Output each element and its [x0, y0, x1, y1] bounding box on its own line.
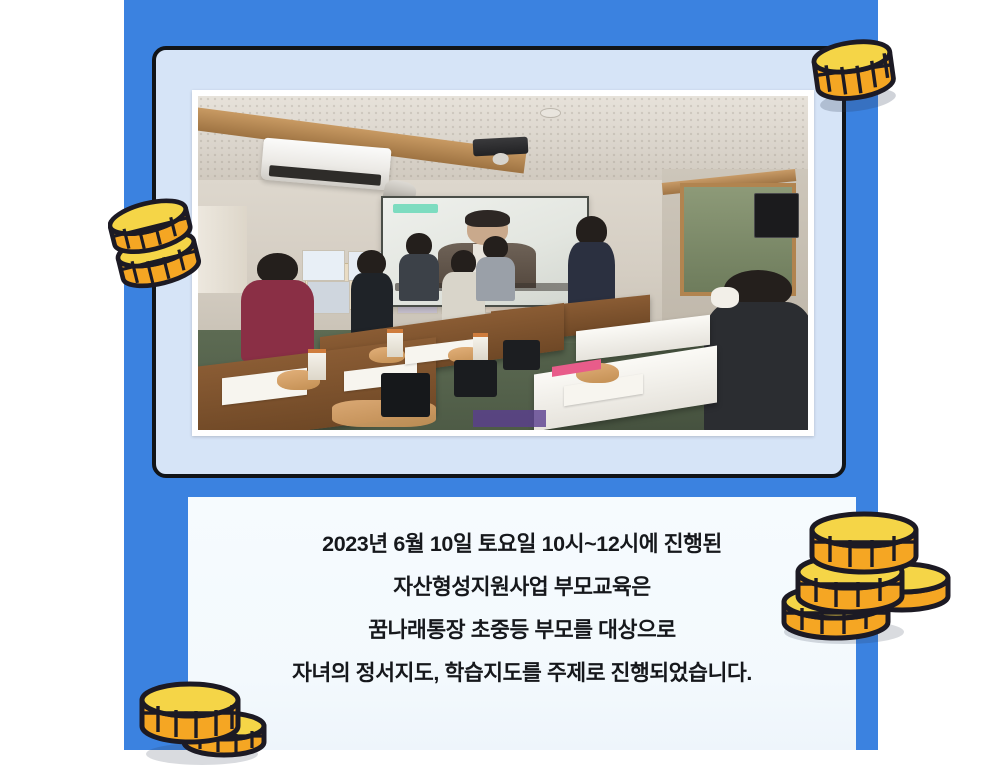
poster-canvas: 2023년 6월 10일 토요일 10시~12시에 진행된 자산형성지원사업 부… — [0, 0, 1000, 750]
wall-monitor — [754, 193, 799, 238]
description-line-3: 꿈나래통장 초중등 부모를 대상으로 — [188, 609, 856, 652]
screen-logo-badge — [393, 204, 438, 214]
classroom-photo — [198, 96, 808, 430]
coin-top-right — [801, 24, 908, 121]
person-seated-d — [351, 250, 394, 334]
description-text: 2023년 6월 10일 토요일 10시~12시에 진행된 자산형성지원사업 부… — [188, 523, 856, 695]
person-burgundy — [241, 253, 314, 357]
chair — [454, 360, 497, 397]
description-line-1: 2023년 6월 10일 토요일 10시~12시에 진행된 — [188, 523, 856, 566]
description-card: 2023년 6월 10일 토요일 10시~12시에 진행된 자산형성지원사업 부… — [188, 497, 856, 750]
left-curtain — [198, 206, 247, 293]
smoke-detector-icon — [540, 108, 562, 118]
description-line-2: 자산형성지원사업 부모교육은 — [188, 566, 856, 609]
projector — [472, 136, 528, 156]
drink-carton — [387, 329, 403, 356]
face-mask — [711, 287, 740, 308]
chair — [381, 373, 430, 416]
person-seated-c — [476, 236, 516, 299]
person-seated-b — [399, 233, 439, 300]
photo-frame — [192, 90, 814, 436]
photo-card — [152, 46, 846, 478]
snack-pack — [473, 410, 546, 427]
chair — [503, 340, 540, 370]
drink-carton — [473, 333, 489, 360]
drink-carton — [308, 349, 326, 380]
coin-bottom-left — [136, 666, 266, 766]
coin-left-middle — [108, 196, 202, 296]
screen-speaker-hair — [465, 210, 510, 227]
coin-right-stack — [778, 486, 928, 646]
description-line-4: 자녀의 정서지도, 학습지도를 주제로 진행되었습니다. — [188, 652, 856, 695]
person-masked-right — [704, 270, 808, 430]
